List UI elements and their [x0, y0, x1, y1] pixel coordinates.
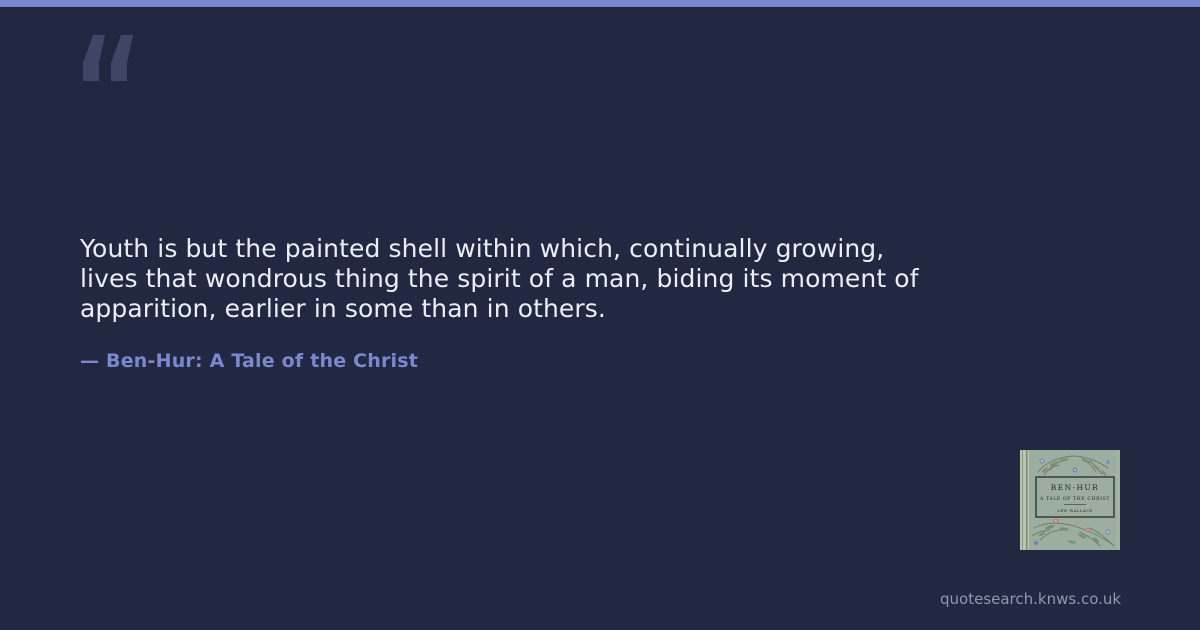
- site-url: quotesearch.knws.co.uk: [940, 590, 1120, 608]
- quote-line: lives that wondrous thing the spirit of …: [80, 264, 1080, 294]
- top-accent-bar: [0, 0, 1200, 7]
- quote-line: Youth is but the painted shell within wh…: [80, 234, 1080, 264]
- book-cover-thumbnail[interactable]: BEN-HUR A TALE OF THE CHRIST LEW WALLACE: [1020, 450, 1120, 550]
- svg-text:LEW WALLACE: LEW WALLACE: [1057, 509, 1092, 513]
- quote-mark-icon: [79, 33, 135, 83]
- quote-attribution: — Ben-Hur: A Tale of the Christ: [80, 350, 418, 372]
- quote-text: Youth is but the painted shell within wh…: [80, 234, 1080, 324]
- svg-text:BEN-HUR: BEN-HUR: [1051, 483, 1099, 492]
- quote-line: apparition, earlier in some than in othe…: [80, 294, 1080, 324]
- svg-text:A TALE OF THE CHRIST: A TALE OF THE CHRIST: [1039, 496, 1110, 502]
